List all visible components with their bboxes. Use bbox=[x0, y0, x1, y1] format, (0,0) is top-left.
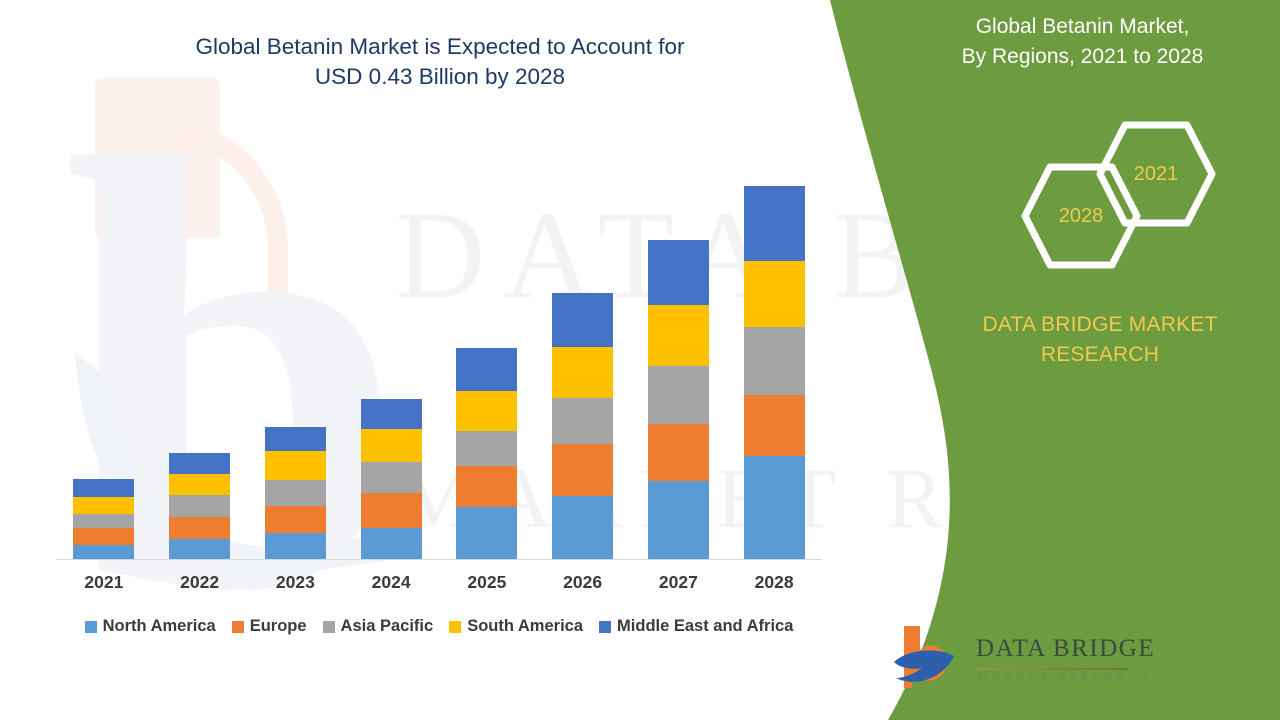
bar-segment[interactable] bbox=[73, 497, 134, 514]
x-axis-label-2022: 2022 bbox=[152, 572, 248, 593]
chart-title-line-2: USD 0.43 Billion by 2028 bbox=[315, 64, 565, 89]
bar-segment[interactable] bbox=[744, 261, 805, 327]
stacked-bar-2025[interactable] bbox=[456, 348, 517, 559]
x-axis-label-2021: 2021 bbox=[56, 572, 152, 593]
stacked-bar-2027[interactable] bbox=[648, 240, 709, 559]
bar-segment[interactable] bbox=[552, 347, 613, 399]
chart-plot-area bbox=[56, 170, 822, 560]
stacked-bar-2026[interactable] bbox=[552, 293, 613, 559]
bar-segment[interactable] bbox=[361, 493, 422, 528]
panel-title: Global Betanin Market, By Regions, 2021 … bbox=[885, 12, 1280, 72]
bar-segment[interactable] bbox=[552, 398, 613, 444]
x-axis-label-2027: 2027 bbox=[631, 572, 727, 593]
chart-legend: North AmericaEuropeAsia PacificSouth Ame… bbox=[56, 617, 822, 636]
bar-group bbox=[56, 170, 822, 559]
bar-segment[interactable] bbox=[744, 186, 805, 261]
stacked-bar-2024[interactable] bbox=[361, 399, 422, 559]
bar-segment[interactable] bbox=[744, 327, 805, 396]
bar-slot bbox=[726, 170, 822, 559]
bar-segment[interactable] bbox=[361, 399, 422, 429]
bar-segment[interactable] bbox=[169, 539, 230, 559]
x-axis-label-2025: 2025 bbox=[439, 572, 535, 593]
bar-segment[interactable] bbox=[169, 474, 230, 495]
logo-wordmark: DATA BRIDGE bbox=[976, 635, 1155, 663]
legend-label: Europe bbox=[250, 617, 307, 636]
panel-brand-text: DATA BRIDGE MARKET RESEARCH bbox=[920, 310, 1280, 371]
logo-tagline: MARKET RESEARCH bbox=[978, 670, 1152, 682]
legend-item-middle-east-and-africa[interactable]: Middle East and Africa bbox=[599, 617, 793, 636]
bar-segment[interactable] bbox=[169, 517, 230, 539]
stacked-bar-2022[interactable] bbox=[169, 453, 230, 559]
bar-segment[interactable] bbox=[169, 495, 230, 517]
legend-item-south-america[interactable]: South America bbox=[449, 617, 583, 636]
bar-segment[interactable] bbox=[552, 293, 613, 347]
bar-segment[interactable] bbox=[265, 427, 326, 451]
bar-segment[interactable] bbox=[552, 444, 613, 496]
legend-label: Asia Pacific bbox=[341, 617, 434, 636]
bar-segment[interactable] bbox=[744, 395, 805, 456]
legend-label: North America bbox=[103, 617, 216, 636]
bar-segment[interactable] bbox=[361, 429, 422, 462]
hexagon-2021: 2021 bbox=[1095, 120, 1217, 228]
bar-segment[interactable] bbox=[456, 431, 517, 466]
bar-segment[interactable] bbox=[361, 462, 422, 493]
legend-item-north-america[interactable]: North America bbox=[85, 617, 216, 636]
hexagon-group: 2028 2021 bbox=[990, 140, 1240, 270]
stacked-bar-2023[interactable] bbox=[265, 427, 326, 559]
x-axis-label-2026: 2026 bbox=[535, 572, 631, 593]
bar-segment[interactable] bbox=[456, 391, 517, 431]
company-logo: DATA BRIDGE MARKET RESEARCH bbox=[890, 622, 1132, 696]
bar-slot bbox=[248, 170, 344, 559]
x-axis-line bbox=[56, 559, 822, 560]
legend-swatch-icon bbox=[85, 621, 97, 633]
stacked-bar-2028[interactable] bbox=[744, 186, 805, 559]
legend-swatch-icon bbox=[449, 621, 461, 633]
x-axis-labels: 20212022202320242025202620272028 bbox=[56, 572, 822, 593]
bar-segment[interactable] bbox=[744, 456, 805, 559]
bar-segment[interactable] bbox=[73, 514, 134, 528]
bar-slot bbox=[439, 170, 535, 559]
bar-slot bbox=[535, 170, 631, 559]
bar-segment[interactable] bbox=[456, 348, 517, 392]
bar-segment[interactable] bbox=[73, 545, 134, 559]
legend-swatch-icon bbox=[323, 621, 335, 633]
bar-segment[interactable] bbox=[73, 479, 134, 497]
panel-brand-line-1: DATA BRIDGE MARKET bbox=[982, 313, 1217, 336]
logo-mark-icon bbox=[890, 622, 970, 696]
bar-segment[interactable] bbox=[552, 496, 613, 559]
panel-title-line-2: By Regions, 2021 to 2028 bbox=[962, 45, 1204, 68]
bar-segment[interactable] bbox=[648, 366, 709, 425]
bar-segment[interactable] bbox=[265, 480, 326, 506]
legend-item-europe[interactable]: Europe bbox=[232, 617, 307, 636]
bar-segment[interactable] bbox=[648, 424, 709, 481]
bar-segment[interactable] bbox=[73, 528, 134, 545]
hexagon-2021-label: 2021 bbox=[1095, 120, 1217, 228]
bar-segment[interactable] bbox=[456, 507, 517, 559]
panel-brand-line-2: RESEARCH bbox=[1041, 343, 1159, 366]
bar-segment[interactable] bbox=[265, 451, 326, 480]
chart-title-line-1: Global Betanin Market is Expected to Acc… bbox=[195, 34, 684, 59]
bar-segment[interactable] bbox=[265, 506, 326, 533]
stacked-bar-2021[interactable] bbox=[73, 479, 134, 559]
x-axis-label-2024: 2024 bbox=[343, 572, 439, 593]
bar-segment[interactable] bbox=[361, 528, 422, 559]
legend-label: Middle East and Africa bbox=[617, 617, 793, 636]
bar-segment[interactable] bbox=[265, 533, 326, 559]
infographic-slide: b DATA BRIDGE MARKET RESEARCH Global Bet… bbox=[0, 0, 1280, 720]
bar-segment[interactable] bbox=[648, 240, 709, 305]
x-axis-label-2023: 2023 bbox=[248, 572, 344, 593]
bar-segment[interactable] bbox=[169, 453, 230, 474]
bar-segment[interactable] bbox=[456, 466, 517, 507]
bar-segment[interactable] bbox=[648, 481, 709, 559]
legend-swatch-icon bbox=[232, 621, 244, 633]
bar-segment[interactable] bbox=[648, 305, 709, 366]
legend-swatch-icon bbox=[599, 621, 611, 633]
legend-item-asia-pacific[interactable]: Asia Pacific bbox=[323, 617, 434, 636]
chart-title: Global Betanin Market is Expected to Acc… bbox=[60, 32, 820, 92]
legend-label: South America bbox=[467, 617, 583, 636]
bar-slot bbox=[56, 170, 152, 559]
bar-slot bbox=[152, 170, 248, 559]
bar-slot bbox=[343, 170, 439, 559]
x-axis-label-2028: 2028 bbox=[726, 572, 822, 593]
bar-slot bbox=[631, 170, 727, 559]
panel-title-line-1: Global Betanin Market, bbox=[976, 15, 1190, 38]
